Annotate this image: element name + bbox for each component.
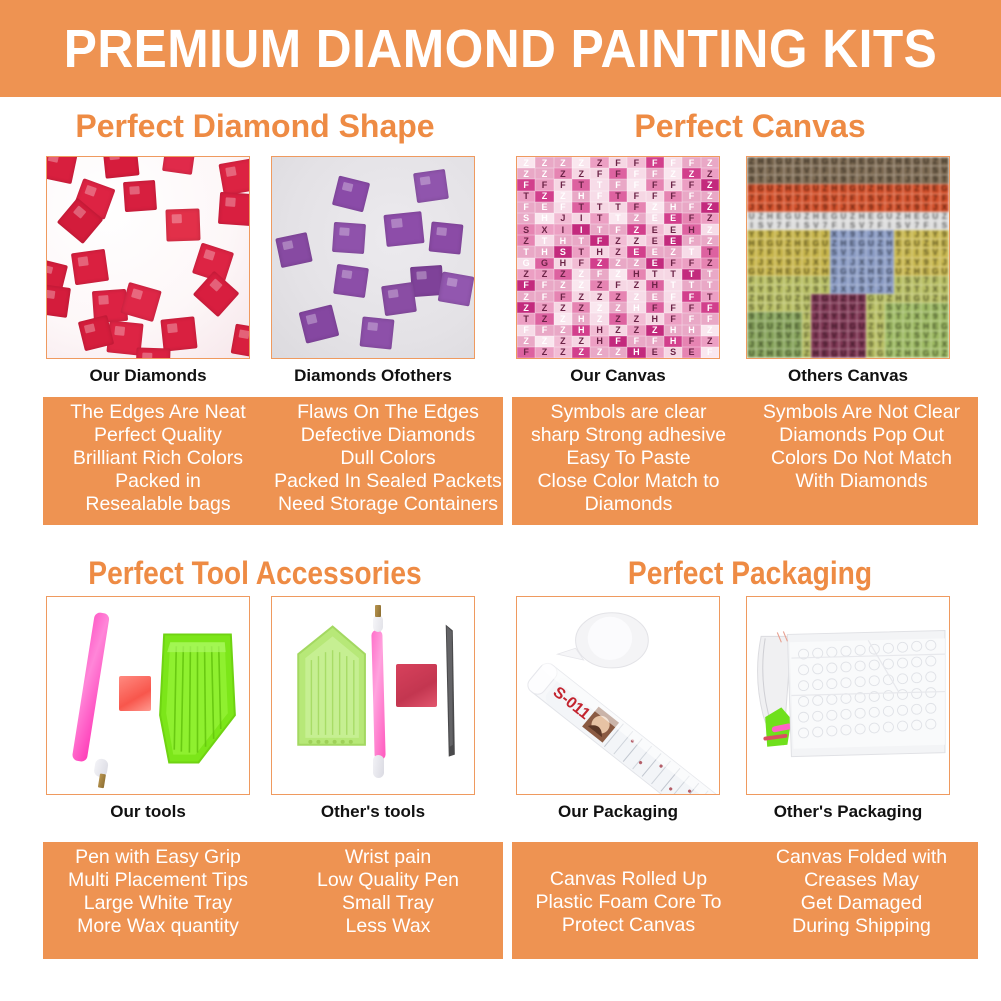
canvas-symbol-cell: F — [609, 336, 627, 347]
canvas-symbol-cell: E — [940, 239, 949, 248]
canvas-symbol-cell: J — [857, 312, 866, 321]
canvas-symbol-cell: E — [682, 347, 700, 358]
canvas-symbol-cell: T — [517, 246, 535, 257]
canvas-symbol-cell: T — [701, 280, 719, 291]
canvas-symbol-cell: F — [682, 302, 700, 313]
canvas-symbol-cell: Y — [857, 203, 866, 212]
diamond-tile — [384, 211, 426, 247]
canvas-symbol-cell: G — [830, 349, 839, 358]
canvas-symbol-cell: I — [940, 276, 949, 285]
panel-line: Colors Do Not Match — [771, 447, 952, 470]
panel-column-ours: Pen with Easy Grip Multi Placement Tips … — [43, 842, 273, 959]
photo-caption: Our Packaging — [516, 802, 720, 822]
comparison-panel-canvas: Symbols are clear sharp Strong adhesive … — [512, 397, 978, 525]
canvas-symbol-cell: G — [912, 294, 921, 303]
canvas-symbol-cell: E — [903, 294, 912, 303]
canvas-symbol-cell: Z — [747, 294, 756, 303]
canvas-symbol-cell: Z — [590, 302, 608, 313]
canvas-symbol-cell: U — [931, 212, 940, 221]
canvas-symbol-cell: S — [820, 331, 829, 340]
canvas-symbol-cell: F — [940, 194, 949, 203]
canvas-symbol-cell: F — [554, 179, 572, 190]
canvas-symbol-cell: Z — [517, 302, 535, 313]
canvas-symbol-cell: T — [590, 213, 608, 224]
canvas-symbol-cell: F — [646, 157, 664, 168]
canvas-symbol-cell: J — [931, 340, 940, 349]
canvas-symbol-cell: F — [609, 168, 627, 179]
canvas-symbol-cell: F — [572, 258, 590, 269]
canvas-symbol-cell: 7 — [866, 221, 875, 230]
canvas-symbol-cell: T — [590, 224, 608, 235]
canvas-symbol-cell: 7 — [885, 331, 894, 340]
canvas-symbol-cell: Z — [848, 349, 857, 358]
canvas-symbol-cell: T — [646, 269, 664, 280]
canvas-symbol-cell: X — [802, 340, 811, 349]
canvas-symbol-cell: S — [885, 303, 894, 312]
canvas-symbol-cell: Z — [848, 212, 857, 221]
canvas-symbol-cell: H — [931, 239, 940, 248]
canvas-symbol-cell: Z — [627, 235, 645, 246]
canvas-symbol-cell: 9 — [839, 312, 848, 321]
canvas-symbol-cell: T — [590, 179, 608, 190]
canvas-symbol-cell: Z — [664, 246, 682, 257]
canvas-symbol-cell: T — [664, 269, 682, 280]
diamond-tile — [437, 271, 474, 306]
canvas-symbol-cell: V — [747, 248, 756, 257]
canvas-symbol-cell: V — [921, 331, 930, 340]
panel-line: Canvas Rolled Up — [550, 868, 707, 891]
canvas-symbol-cell: H — [811, 349, 820, 358]
canvas-symbol-cell: F — [682, 313, 700, 324]
canvas-symbol-cell: 7 — [830, 276, 839, 285]
canvas-symbol-cell: V — [921, 194, 930, 203]
panel-line: Small Tray — [342, 892, 434, 915]
canvas-symbol-cell: U — [921, 294, 930, 303]
canvas-symbol-cell: V — [811, 221, 820, 230]
canvas-symbol-cell: T — [857, 230, 866, 239]
canvas-symbol-cell: T — [609, 202, 627, 213]
canvas-symbol-cell: Y — [848, 285, 857, 294]
canvas-symbol-cell: T — [921, 203, 930, 212]
canvas-symbol-cell: T — [848, 175, 857, 184]
canvas-symbol-cell: 9 — [784, 258, 793, 267]
canvas-symbol-cell: E — [646, 213, 664, 224]
canvas-symbol-cell: Y — [830, 175, 839, 184]
canvas-symbol-cell: 9 — [765, 285, 774, 294]
canvas-symbol-cell: G — [876, 212, 885, 221]
canvas-symbol-cell: Z — [839, 157, 848, 166]
canvas-symbol-cell: H — [784, 321, 793, 330]
canvas-symbol-cell: 9 — [820, 203, 829, 212]
canvas-symbol-cell: S — [517, 213, 535, 224]
canvas-symbol-cell: F — [609, 157, 627, 168]
canvas-symbol-cell: G — [921, 349, 930, 358]
canvas-symbol-cell: H — [921, 184, 930, 193]
canvas-symbol-cell: I — [784, 303, 793, 312]
canvas-symbol-cell: X — [784, 230, 793, 239]
canvas-symbol-cell: T — [876, 340, 885, 349]
canvas-symbol-cell: Z — [572, 347, 590, 358]
canvas-symbol-cell: Z — [830, 239, 839, 248]
panel-column-theirs: Symbols Are Not Clear Diamonds Pop Out C… — [745, 397, 978, 525]
panel-line: More Wax quantity — [77, 915, 239, 938]
canvas-symbol-cell: G — [802, 184, 811, 193]
canvas-symbol-cell: S — [931, 303, 940, 312]
canvas-symbol-cell: V — [894, 303, 903, 312]
diamond-tile — [46, 284, 71, 318]
canvas-symbol-cell: U — [802, 267, 811, 276]
canvas-symbol-cell: I — [912, 248, 921, 257]
canvas-symbol-cell: E — [931, 321, 940, 330]
panel-line: Pen with Easy Grip — [75, 846, 241, 869]
canvas-symbol-cell: I — [811, 194, 820, 203]
canvas-symbol-cell: Y — [857, 340, 866, 349]
canvas-symbol-cell: T — [572, 246, 590, 257]
canvas-symbol-cell: U — [931, 349, 940, 358]
canvas-symbol-cell: E — [839, 321, 848, 330]
canvas-symbol-cell: Y — [756, 285, 765, 294]
canvas-symbol-cell: X — [903, 258, 912, 267]
canvas-symbol-cell: Z — [554, 280, 572, 291]
panel-line: Perfect Quality — [94, 424, 222, 447]
canvas-symbol-cell: G — [802, 321, 811, 330]
canvas-symbol-cell: 7 — [857, 166, 866, 175]
canvas-symbol-cell: G — [517, 258, 535, 269]
canvas-symbol-cell: 7 — [839, 331, 848, 340]
panel-line: Symbols Are Not Clear — [763, 401, 960, 424]
canvas-symbol-cell: S — [793, 303, 802, 312]
canvas-symbol-cell: J — [876, 285, 885, 294]
canvas-symbol-cell: S — [784, 248, 793, 257]
canvas-symbol-cell: G — [747, 267, 756, 276]
canvas-symbol-cell: H — [903, 349, 912, 358]
canvas-symbol-cell: S — [866, 194, 875, 203]
canvas-symbol-cell: F — [802, 331, 811, 340]
canvas-symbol-cell: G — [830, 212, 839, 221]
canvas-symbol-cell: U — [793, 349, 802, 358]
canvas-symbol-cell: F — [701, 313, 719, 324]
canvas-symbol-cell: F — [627, 157, 645, 168]
canvas-symbol-cell: 7 — [903, 166, 912, 175]
blurry-canvas-photo: ZHEGUZHEGUZHEGUZHEGUZHSV7FISV7FISV7FISV7… — [746, 156, 950, 359]
canvas-symbol-cell: U — [793, 212, 802, 221]
panel-line: Canvas Folded with — [776, 846, 947, 869]
photo-caption: Our tools — [46, 802, 250, 822]
diamond-tile — [162, 156, 196, 175]
canvas-symbol-cell: 7 — [820, 221, 829, 230]
green-tray — [47, 597, 249, 794]
canvas-symbol-cell: H — [857, 212, 866, 221]
canvas-symbol-cell: U — [894, 267, 903, 276]
canvas-symbol-cell: H — [590, 336, 608, 347]
canvas-symbol-cell: U — [811, 321, 820, 330]
canvas-symbol-cell: F — [646, 179, 664, 190]
canvas-symbol-cell: T — [747, 258, 756, 267]
tube-packaging-photo: S-011 — [516, 596, 720, 795]
canvas-symbol-cell: Z — [793, 157, 802, 166]
canvas-symbol-cell: H — [820, 267, 829, 276]
canvas-symbol-cell: F — [765, 248, 774, 257]
canvas-symbol-cell: Z — [572, 280, 590, 291]
other-tools-photo — [271, 596, 475, 795]
canvas-symbol-cell: F — [912, 166, 921, 175]
canvas-symbol-cell: G — [894, 321, 903, 330]
canvas-symbol-cell: I — [820, 248, 829, 257]
canvas-symbol-cell: X — [747, 285, 756, 294]
canvas-symbol-cell: Z — [701, 224, 719, 235]
canvas-symbol-cell: H — [811, 212, 820, 221]
canvas-symbol-cell: I — [931, 221, 940, 230]
canvas-symbol-cell: G — [921, 212, 930, 221]
canvas-symbol-cell: V — [912, 276, 921, 285]
canvas-symbol-cell: I — [903, 331, 912, 340]
canvas-symbol-cell: H — [839, 239, 848, 248]
canvas-symbol-cell: E — [866, 212, 875, 221]
photo-caption: Other's Packaging — [746, 802, 950, 822]
canvas-symbol-cell: F — [682, 336, 700, 347]
canvas-symbol-cell: G — [912, 157, 921, 166]
comparison-panel-diamond-shape: The Edges Are Neat Perfect Quality Brill… — [43, 397, 503, 525]
diamond-tile — [123, 180, 157, 212]
canvas-symbol-cell: I — [894, 276, 903, 285]
panel-line: Protect Canvas — [562, 914, 695, 937]
canvas-symbol-cell: F — [682, 179, 700, 190]
canvas-symbol-cell: Z — [811, 267, 820, 276]
canvas-symbol-cell: I — [866, 248, 875, 257]
canvas-symbol-cell: I — [848, 276, 857, 285]
canvas-symbol-cell: E — [756, 239, 765, 248]
canvas-symbol-cell: F — [756, 194, 765, 203]
canvas-symbol-cell: F — [627, 168, 645, 179]
canvas-symbol-cell: I — [572, 224, 590, 235]
canvas-symbol-cell: E — [903, 157, 912, 166]
canvas-symbol-cell: E — [775, 212, 784, 221]
canvas-symbol-cell: H — [572, 313, 590, 324]
red-diamonds-photo — [46, 156, 250, 359]
panel-line: Packed in — [115, 470, 201, 493]
canvas-symbol-cell: T — [784, 203, 793, 212]
canvas-symbol-cell: F — [885, 276, 894, 285]
canvas-symbol-cell: G — [931, 267, 940, 276]
canvas-symbol-cell: Z — [839, 294, 848, 303]
canvas-symbol-cell: U — [756, 267, 765, 276]
canvas-symbol-cell: F — [664, 313, 682, 324]
canvas-symbol-cell: 7 — [839, 194, 848, 203]
canvas-symbol-cell: V — [931, 248, 940, 257]
canvas-symbol-cell: U — [830, 294, 839, 303]
canvas-symbol-cell: F — [646, 336, 664, 347]
canvas-symbol-cell: 7 — [894, 248, 903, 257]
canvas-symbol-cell: U — [775, 239, 784, 248]
canvas-symbol-cell: I — [876, 303, 885, 312]
canvas-symbol-cell: I — [765, 194, 774, 203]
canvas-symbol-cell: S — [857, 276, 866, 285]
canvas-symbol-cell: H — [554, 258, 572, 269]
photo-caption: Diamonds Ofothers — [271, 366, 475, 386]
canvas-symbol-cell: U — [811, 184, 820, 193]
canvas-symbol-cell: H — [646, 313, 664, 324]
canvas-symbol-cell: Z — [517, 157, 535, 168]
diamond-tile — [332, 222, 366, 254]
canvas-symbol-cell: V — [802, 303, 811, 312]
canvas-symbol-cell: 7 — [931, 194, 940, 203]
canvas-symbol-cell: E — [931, 184, 940, 193]
canvas-symbol-cell: Z — [793, 294, 802, 303]
canvas-symbol-cell: 9 — [894, 230, 903, 239]
canvas-symbol-cell: J — [554, 213, 572, 224]
canvas-symbol-cell: 9 — [857, 285, 866, 294]
canvas-symbol-cell: G — [765, 239, 774, 248]
canvas-symbol-cell: E — [811, 294, 820, 303]
canvas-symbol-cell: F — [517, 347, 535, 358]
canvas-symbol-cell: X — [894, 340, 903, 349]
canvas-symbol-cell: F — [609, 280, 627, 291]
canvas-symbol-cell: F — [609, 179, 627, 190]
canvas-symbol-cell: X — [802, 203, 811, 212]
canvas-symbol-cell: X — [793, 285, 802, 294]
canvas-symbol-cell: E — [765, 157, 774, 166]
canvas-symbol-cell: J — [857, 175, 866, 184]
canvas-symbol-cell: H — [793, 239, 802, 248]
canvas-symbol-cell: Z — [627, 213, 645, 224]
canvas-symbol-cell: J — [830, 285, 839, 294]
canvas-symbol-cell: I — [756, 276, 765, 285]
canvas-symbol-cell: 9 — [811, 285, 820, 294]
section-title-packaging: Perfect Packaging — [534, 555, 965, 592]
canvas-symbol-cell: H — [894, 294, 903, 303]
canvas-symbol-cell: F — [517, 202, 535, 213]
canvas-symbol-cell: H — [590, 246, 608, 257]
canvas-symbol-cell: Z — [885, 294, 894, 303]
canvas-symbol-cell: Z — [590, 347, 608, 358]
canvas-symbol-cell: H — [848, 294, 857, 303]
canvas-symbol-cell: 7 — [848, 248, 857, 257]
canvas-symbol-cell: F — [793, 276, 802, 285]
canvas-symbol-cell: Z — [535, 302, 553, 313]
canvas-symbol-cell: V — [784, 331, 793, 340]
canvas-symbol-cell: 7 — [784, 276, 793, 285]
canvas-symbol-cell: X — [535, 224, 553, 235]
canvas-symbol-cell: Z — [609, 235, 627, 246]
panel-column-theirs: Canvas Folded with Creases May Get Damag… — [745, 842, 978, 959]
canvas-symbol-cell: Y — [940, 285, 949, 294]
canvas-symbol-cell: Z — [627, 313, 645, 324]
section-title-diamond-shape: Perfect Diamond Shape — [10, 108, 500, 145]
canvas-symbol-cell: Z — [627, 325, 645, 336]
canvas-symbol-cell: I — [747, 221, 756, 230]
canvas-symbol-cell: X — [894, 203, 903, 212]
canvas-symbol-cell: 7 — [775, 221, 784, 230]
canvas-symbol-cell: Z — [609, 269, 627, 280]
canvas-symbol-cell: I — [811, 331, 820, 340]
canvas-symbol-cell: F — [912, 303, 921, 312]
canvas-symbol-cell: Z — [590, 157, 608, 168]
canvas-symbol-cell: E — [747, 321, 756, 330]
canvas-symbol-cell: V — [848, 303, 857, 312]
canvas-symbol-cell: G — [940, 184, 949, 193]
panel-line: During Shipping — [792, 915, 931, 938]
canvas-symbol-cell: S — [894, 221, 903, 230]
canvas-symbol-cell: J — [903, 312, 912, 321]
canvas-symbol-cell: G — [756, 184, 765, 193]
canvas-symbol-cell: I — [839, 221, 848, 230]
panel-line: Flaws On The Edges — [297, 401, 479, 424]
canvas-symbol-cell: F — [664, 157, 682, 168]
canvas-symbol-cell: J — [765, 175, 774, 184]
canvas-symbol-cell: 7 — [811, 166, 820, 175]
canvas-symbol-cell: U — [839, 349, 848, 358]
canvas-symbol-cell: S — [903, 276, 912, 285]
canvas-symbol-cell: Z — [517, 235, 535, 246]
canvas-symbol-cell: U — [857, 321, 866, 330]
canvas-symbol-cell: H — [876, 321, 885, 330]
panel-line: The Edges Are Neat — [70, 401, 246, 424]
canvas-symbol-cell: Z — [664, 168, 682, 179]
canvas-symbol-cell: J — [885, 340, 894, 349]
canvas-symbol-cell: U — [747, 212, 756, 221]
canvas-symbol-cell: S — [931, 166, 940, 175]
panel-column-ours: The Edges Are Neat Perfect Quality Brill… — [43, 397, 273, 525]
canvas-symbol-cell: Z — [554, 269, 572, 280]
canvas-symbol-cell: H — [866, 267, 875, 276]
canvas-symbol-cell: Y — [793, 230, 802, 239]
canvas-symbol-cell: H — [627, 347, 645, 358]
canvas-symbol-cell: G — [885, 267, 894, 276]
bubble-mailer-photo — [746, 596, 950, 795]
canvas-symbol-cell: Z — [609, 313, 627, 324]
canvas-symbol-cell: J — [811, 312, 820, 321]
canvas-symbol-cell: E — [664, 235, 682, 246]
canvas-symbol-cell: H — [682, 224, 700, 235]
canvas-symbol-cell: T — [701, 269, 719, 280]
canvas-symbol-cell: J — [756, 258, 765, 267]
canvas-symbol-cell: T — [572, 202, 590, 213]
canvas-symbol-cell: X — [775, 312, 784, 321]
canvas-symbol-cell: T — [572, 179, 590, 190]
canvas-symbol-cell: V — [940, 166, 949, 175]
diamond-tile — [299, 304, 340, 344]
canvas-symbol-cell: V — [857, 221, 866, 230]
canvas-symbol-cell: G — [775, 294, 784, 303]
canvas-symbol-cell: 9 — [931, 312, 940, 321]
canvas-symbol-cell: Z — [701, 157, 719, 168]
canvas-symbol-cell: 7 — [793, 331, 802, 340]
canvas-symbol-cell: U — [940, 267, 949, 276]
canvas-symbol-cell: 7 — [912, 221, 921, 230]
canvas-symbol-cell: F — [554, 291, 572, 302]
canvas-symbol-cell: E — [885, 321, 894, 330]
panel-column-theirs: Flaws On The Edges Defective Diamonds Du… — [273, 397, 503, 525]
canvas-symbol-cell: 7 — [811, 303, 820, 312]
canvas-symbol-cell: V — [830, 331, 839, 340]
canvas-symbol-cell: E — [885, 184, 894, 193]
canvas-symbol-cell: F — [940, 331, 949, 340]
canvas-symbol-cell: E — [912, 212, 921, 221]
canvas-symbol-cell: J — [802, 258, 811, 267]
canvas-symbol-cell: E — [775, 349, 784, 358]
canvas-symbol-cell: F — [848, 331, 857, 340]
canvas-symbol-cell: U — [876, 157, 885, 166]
canvas-symbol-cell: E — [646, 224, 664, 235]
canvas-symbol-cell: F — [627, 336, 645, 347]
canvas-symbol-cell: U — [747, 349, 756, 358]
canvas-symbol-cell: T — [784, 340, 793, 349]
canvas-symbol-cell: E — [802, 239, 811, 248]
canvas-symbol-cell: Z — [940, 349, 949, 358]
canvas-symbol-cell: F — [590, 269, 608, 280]
canvas-symbol-cell: Y — [820, 258, 829, 267]
canvas-symbol-cell: Y — [866, 258, 875, 267]
